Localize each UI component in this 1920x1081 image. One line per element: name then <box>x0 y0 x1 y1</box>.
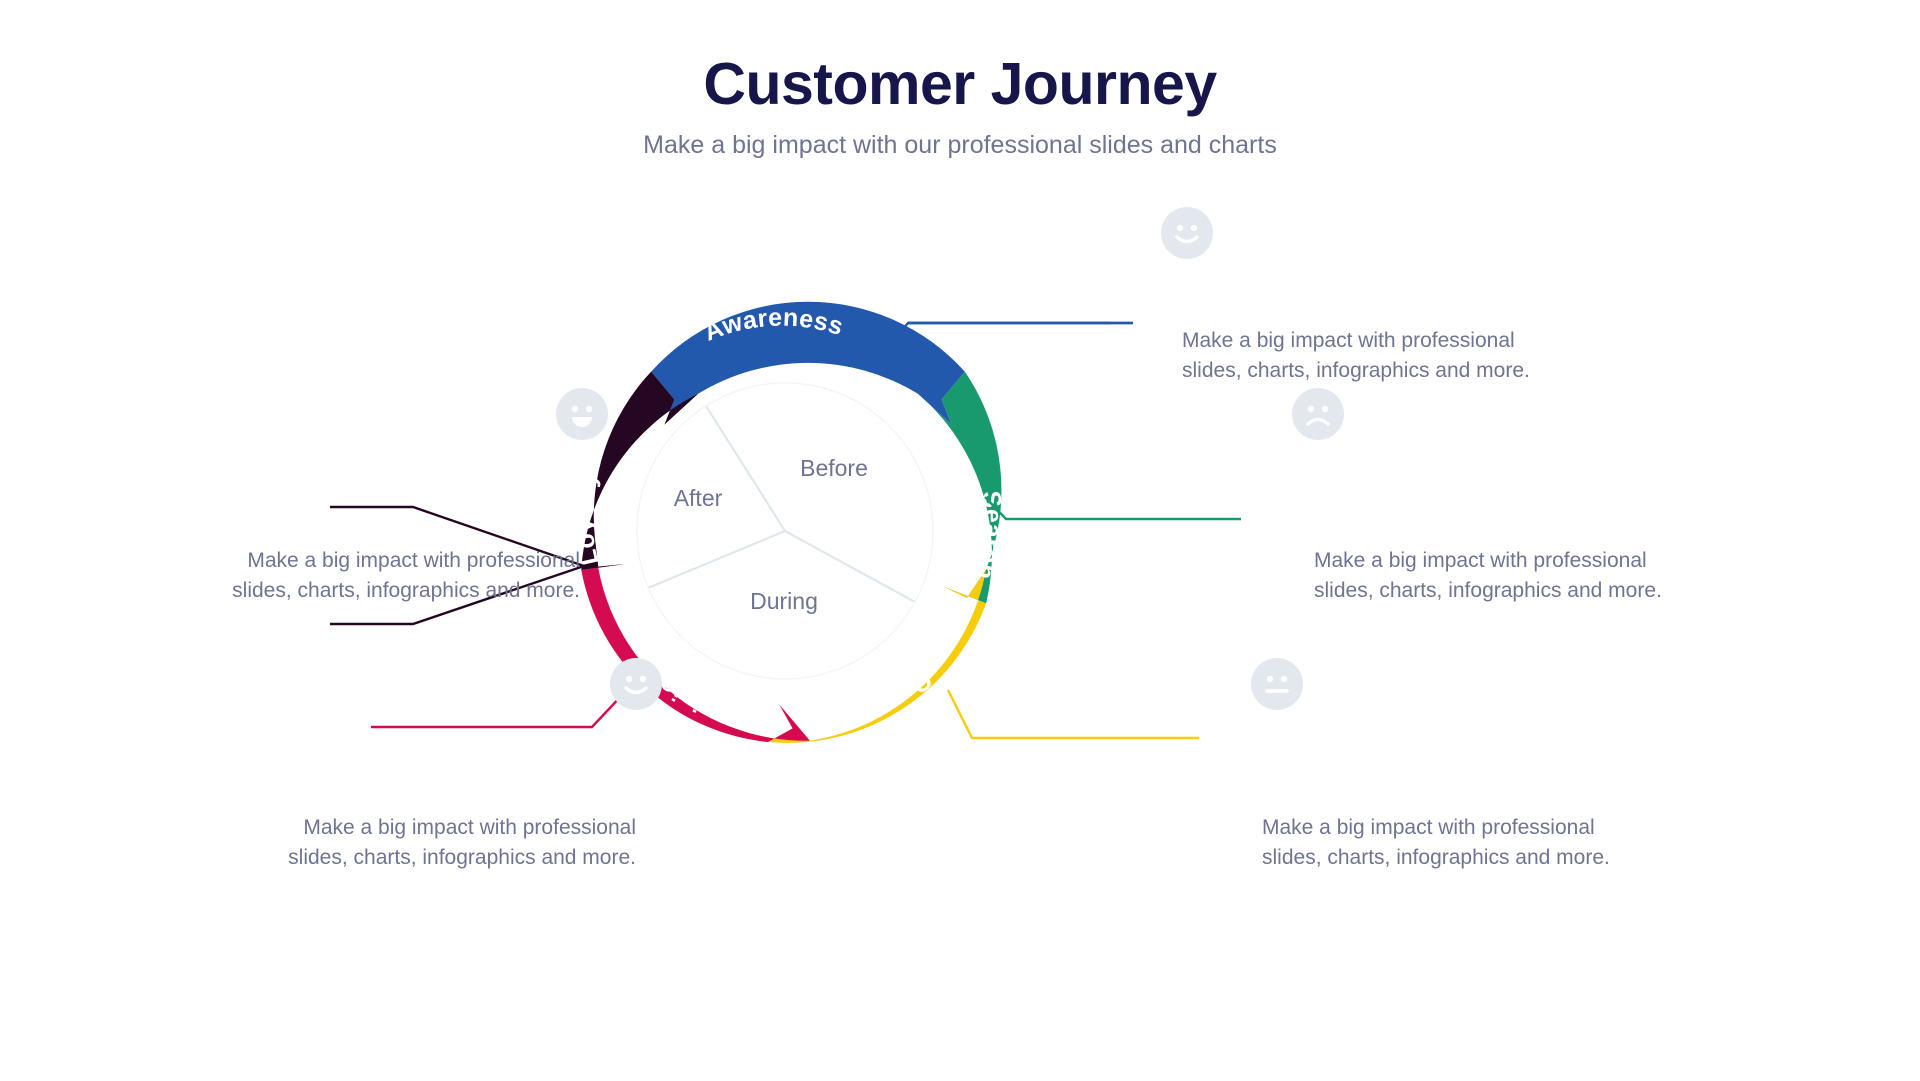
neutral-face-icon <box>1251 658 1303 710</box>
mood-icon-search <box>1292 388 1344 440</box>
callout-awareness: Make a big impact with professional slid… <box>1182 326 1652 386</box>
connector-elbow-decision <box>371 676 640 727</box>
mood-icon-loyalty <box>556 388 608 440</box>
callout-search: Make a big impact with professional slid… <box>1314 546 1784 606</box>
mood-icon-consider <box>1251 658 1303 710</box>
mood-icon-decision <box>610 658 662 710</box>
callout-consider-line1: Make a big impact with professional <box>1262 813 1732 843</box>
callout-decision-line1: Make a big impact with professional <box>166 813 636 843</box>
mood-icon-awareness <box>1161 207 1213 259</box>
callout-loyalty-line1: Make a big impact with professional <box>110 546 580 576</box>
callout-search-line2: slides, charts, infographics and more. <box>1314 576 1784 606</box>
grin-face-icon <box>556 388 608 440</box>
callout-awareness-line2: slides, charts, infographics and more. <box>1182 356 1652 386</box>
callout-consider: Make a big impact with professional slid… <box>1262 813 1732 873</box>
customer-journey-diagram: Before During After Awareness Search Con… <box>0 0 1920 1081</box>
segment-label-search: Search <box>970 490 1007 583</box>
callout-loyalty-line2: slides, charts, infographics and more. <box>110 576 580 606</box>
inner-label-before: Before <box>800 455 868 481</box>
smiley-face-icon <box>1161 207 1213 259</box>
callout-decision-line2: slides, charts, infographics and more. <box>166 843 636 873</box>
smiley-face-icon <box>610 658 662 710</box>
callout-search-line1: Make a big impact with professional <box>1314 546 1784 576</box>
inner-label-after: After <box>674 485 723 511</box>
inner-phase-sectors <box>637 383 933 679</box>
inner-label-during: During <box>750 588 818 614</box>
callout-consider-line2: slides, charts, infographics and more. <box>1262 843 1732 873</box>
callout-decision: Make a big impact with professional slid… <box>166 813 636 873</box>
connector-elbow-search <box>985 497 1241 519</box>
journey-wheel-svg: Before During After Awareness Search Con… <box>0 0 1920 1081</box>
segment-label-consider: Consider <box>821 665 937 732</box>
callout-awareness-line1: Make a big impact with professional <box>1182 326 1652 356</box>
sad-face-icon <box>1292 388 1344 440</box>
callout-loyalty: Make a big impact with professional slid… <box>110 546 580 606</box>
connector-elbow-consider <box>948 690 1199 738</box>
